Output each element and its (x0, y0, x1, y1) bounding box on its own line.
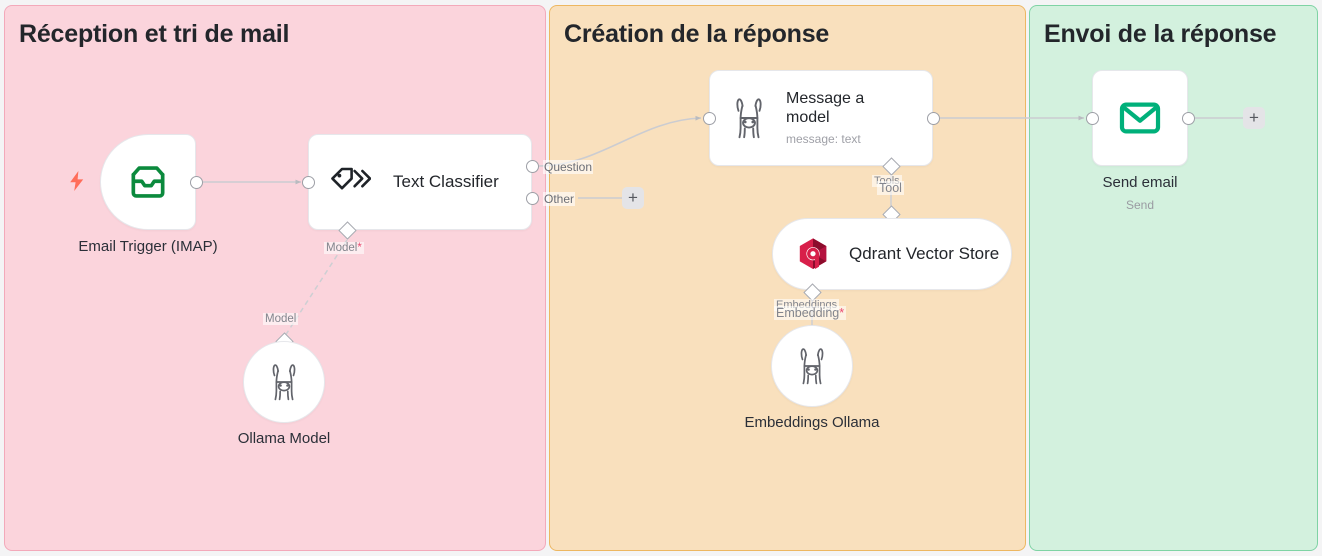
diamond-label-ollama-model: Model (263, 313, 298, 325)
llama-icon (795, 347, 829, 385)
diamond-label-classifier-model: Model* (324, 242, 364, 254)
sticky-title-envoi: Envoi de la réponse (1044, 20, 1276, 49)
sticky-note-reception[interactable]: Réception et tri de mail (4, 5, 546, 551)
port-text-classifier-output-question[interactable] (526, 160, 539, 173)
workflow-canvas[interactable]: Réception et tri de mail Création de la … (0, 0, 1322, 556)
qdrant-icon (797, 237, 829, 271)
required-asterisk: * (357, 242, 361, 254)
port-send-email-input[interactable] (1086, 112, 1099, 125)
lightning-bolt-icon (68, 170, 86, 192)
node-email-trigger[interactable] (100, 134, 196, 230)
node-subtitle-message-a-model: message: text (786, 132, 906, 146)
tag-chevrons-icon (329, 165, 371, 199)
llama-icon (730, 97, 768, 139)
diamond-label-embedding-text: Embedding (776, 306, 839, 320)
diamond-label-classifier-model-text: Model (326, 242, 357, 254)
node-text-classifier[interactable]: Text Classifier (308, 134, 532, 230)
node-send-email[interactable] (1092, 70, 1188, 166)
envelope-icon (1117, 95, 1163, 141)
node-title-message-a-model: Message a model (786, 90, 906, 128)
port-label-other: Other (543, 192, 575, 206)
node-ollama-model[interactable] (243, 341, 325, 423)
port-message-a-model-input[interactable] (703, 112, 716, 125)
llama-icon (267, 363, 301, 401)
required-asterisk-embedding: * (839, 306, 844, 320)
node-qdrant-vector-store[interactable]: Qdrant Vector Store (772, 218, 1012, 290)
inbox-icon (126, 160, 170, 204)
port-send-email-output[interactable] (1182, 112, 1195, 125)
node-label-embeddings-ollama: Embeddings Ollama (712, 414, 912, 431)
diamond-label-tool: Tool (877, 181, 904, 195)
add-node-button-other[interactable]: + (622, 187, 644, 209)
port-text-classifier-output-other[interactable] (526, 192, 539, 205)
node-title-qdrant: Qdrant Vector Store (849, 244, 999, 264)
add-node-button-send-email[interactable]: + (1243, 107, 1265, 129)
node-label-send-email: Send email (1040, 174, 1240, 191)
port-text-classifier-input[interactable] (302, 176, 315, 189)
node-message-a-model[interactable]: Message a model message: text (709, 70, 933, 166)
port-label-question: Question (543, 160, 593, 174)
sticky-title-reception: Réception et tri de mail (19, 20, 289, 49)
node-title-text-classifier: Text Classifier (393, 172, 499, 192)
node-label-ollama-model: Ollama Model (184, 430, 384, 447)
diamond-label-embedding: Embedding* (774, 306, 846, 320)
sticky-title-creation: Création de la réponse (564, 20, 829, 49)
node-label-email-trigger: Email Trigger (IMAP) (48, 238, 248, 255)
node-sublabel-send-email: Send (1040, 198, 1240, 212)
port-message-a-model-output[interactable] (927, 112, 940, 125)
port-email-trigger-output[interactable] (190, 176, 203, 189)
node-embeddings-ollama[interactable] (771, 325, 853, 407)
